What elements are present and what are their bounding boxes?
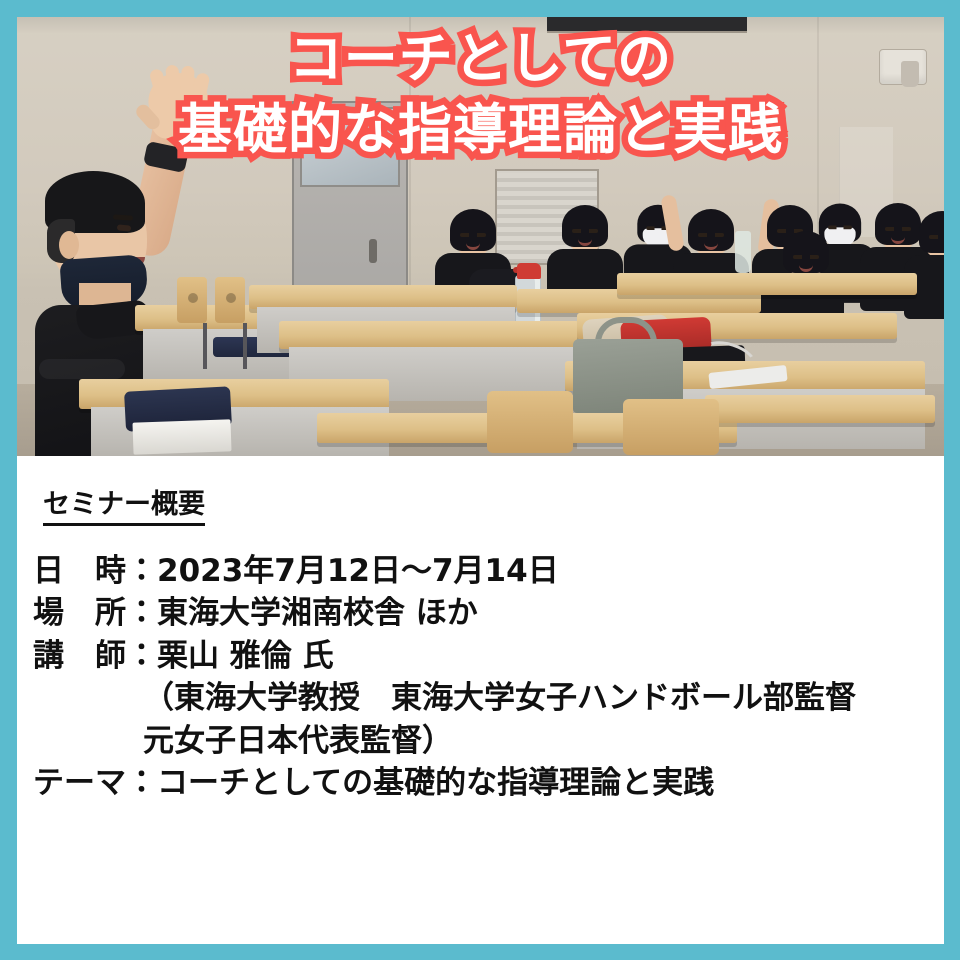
desk (705, 395, 935, 423)
desk (279, 321, 579, 349)
chair-leg (203, 323, 207, 369)
info-row-datetime: 日 時：2023年7月12日〜7月14日 (33, 550, 944, 592)
seminar-info-panel: セミナー概要 日 時：2023年7月12日〜7月14日 場 所：東海大学湘南校舎… (17, 456, 944, 944)
student-figure (909, 215, 944, 319)
chair-back (487, 391, 573, 453)
student-eyes (885, 227, 911, 231)
seminar-photo: コーチとしての 基礎的な指導理論と実践 (17, 17, 944, 456)
classroom-scene (17, 17, 944, 456)
poster-inner: コーチとしての 基礎的な指導理論と実践 セミナー概要 日 時：2023年7月12… (17, 17, 944, 944)
info-row-theme: テーマ：コーチとしての基礎的な指導理論と実践 (33, 762, 944, 804)
info-row-lecturer-title-1: （東海大学教授 東海大学女子ハンドボール部監督 (33, 677, 944, 719)
poster-root: コーチとしての 基礎的な指導理論と実践 セミナー概要 日 時：2023年7月12… (0, 0, 960, 960)
student-eyes (698, 233, 724, 237)
info-row-lecturer: 講 師：栗山 雅倫 氏 (33, 635, 944, 677)
ceiling-vent (547, 17, 747, 33)
desk (249, 285, 517, 309)
water-bottle (735, 231, 751, 273)
student-eyes (828, 226, 852, 230)
spray-trigger (517, 263, 541, 279)
chair-leg (243, 323, 247, 369)
chair-hole (188, 293, 198, 303)
chair-hole (226, 293, 236, 303)
student-eyes (929, 235, 944, 239)
coach-ear (59, 231, 79, 259)
wall-speaker (901, 61, 919, 87)
desk (617, 273, 917, 295)
printed-materials (132, 419, 231, 454)
chair-back (623, 399, 719, 455)
student-eyes (793, 255, 819, 259)
info-list: 日 時：2023年7月12日〜7月14日 場 所：東海大学湘南校舎 ほか 講 師… (33, 550, 944, 805)
wall-seam (409, 17, 411, 317)
info-heading: セミナー概要 (43, 482, 205, 526)
coach-sleeve (39, 359, 125, 379)
student-hair (919, 211, 944, 253)
student-eyes (460, 233, 486, 237)
ceiling-strip (17, 17, 944, 33)
student-eyes (572, 229, 598, 233)
info-row-venue: 場 所：東海大学湘南校舎 ほか (33, 592, 944, 634)
door-handle (369, 239, 377, 263)
info-row-lecturer-title-2: 元女子日本代表監督） (33, 720, 944, 762)
